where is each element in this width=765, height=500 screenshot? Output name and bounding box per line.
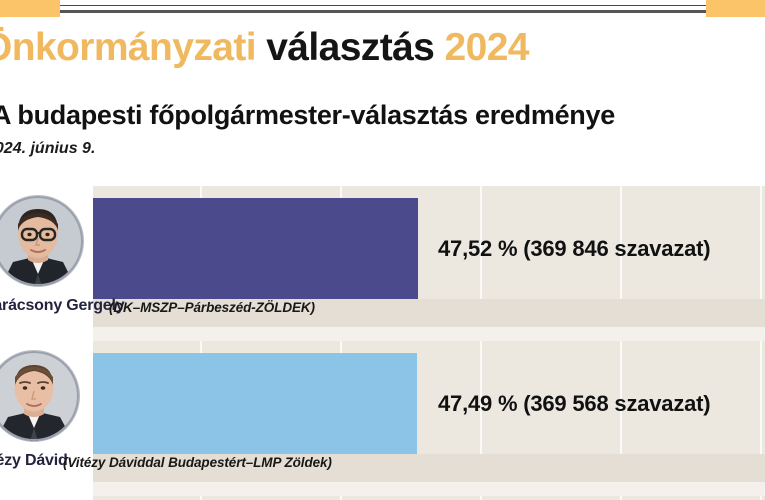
page-date: 2024. június 9. xyxy=(0,140,765,158)
results-bar-chart: 47,52 % (369 846 szavazat) 47,49 % (369 … xyxy=(93,186,765,500)
accent-block-right xyxy=(706,0,765,17)
name-strip-spacer-1 xyxy=(93,327,765,341)
page-title-part3: 2024 xyxy=(445,26,529,69)
chart-row: 47,49 % (369 568 szavazat) xyxy=(93,341,765,496)
page-subtitle: A budapesti főpolgármester-választás ere… xyxy=(0,100,765,131)
candidate-party-2: (Vitézy Dáviddal Budapestért–LMP Zöldek) xyxy=(63,455,332,470)
chart-rows: 47,52 % (369 846 szavazat) 47,49 % (369 … xyxy=(93,186,765,500)
top-decorative-bar xyxy=(0,0,765,22)
chart-row-partial xyxy=(93,496,765,500)
candidate-entry-1: Karácsony Gergely xyxy=(0,186,93,341)
bar-value-label-1: 47,52 % (369 846 szavazat) xyxy=(438,236,710,262)
candidate-name-2: Vitézy Dávid xyxy=(0,452,68,470)
bar-value-label-2: 47,49 % (369 568 szavazat) xyxy=(438,391,710,417)
bar-candidate-1 xyxy=(93,198,418,299)
page-title: Önkormányzati választás 2024 xyxy=(0,28,762,69)
chart-row: 47,52 % (369 846 szavazat) xyxy=(93,186,765,341)
candidate-entry-2: Vitézy Dávid xyxy=(0,341,93,496)
horizontal-rule xyxy=(60,5,706,13)
candidate-party-1: (DK–MSZP–Párbeszéd-ZÖLDEK) xyxy=(109,300,315,315)
name-strip-spacer-2 xyxy=(93,482,765,496)
karacsony-gergely-portrait xyxy=(0,195,84,287)
page-title-part1: Önkormányzati xyxy=(0,26,256,69)
accent-block-left xyxy=(0,0,60,17)
page-title-part2: választás xyxy=(266,26,434,69)
candidate-name-1: Karácsony Gergely xyxy=(0,297,124,315)
bar-candidate-2 xyxy=(93,353,417,454)
vitezy-david-portrait xyxy=(0,350,80,442)
